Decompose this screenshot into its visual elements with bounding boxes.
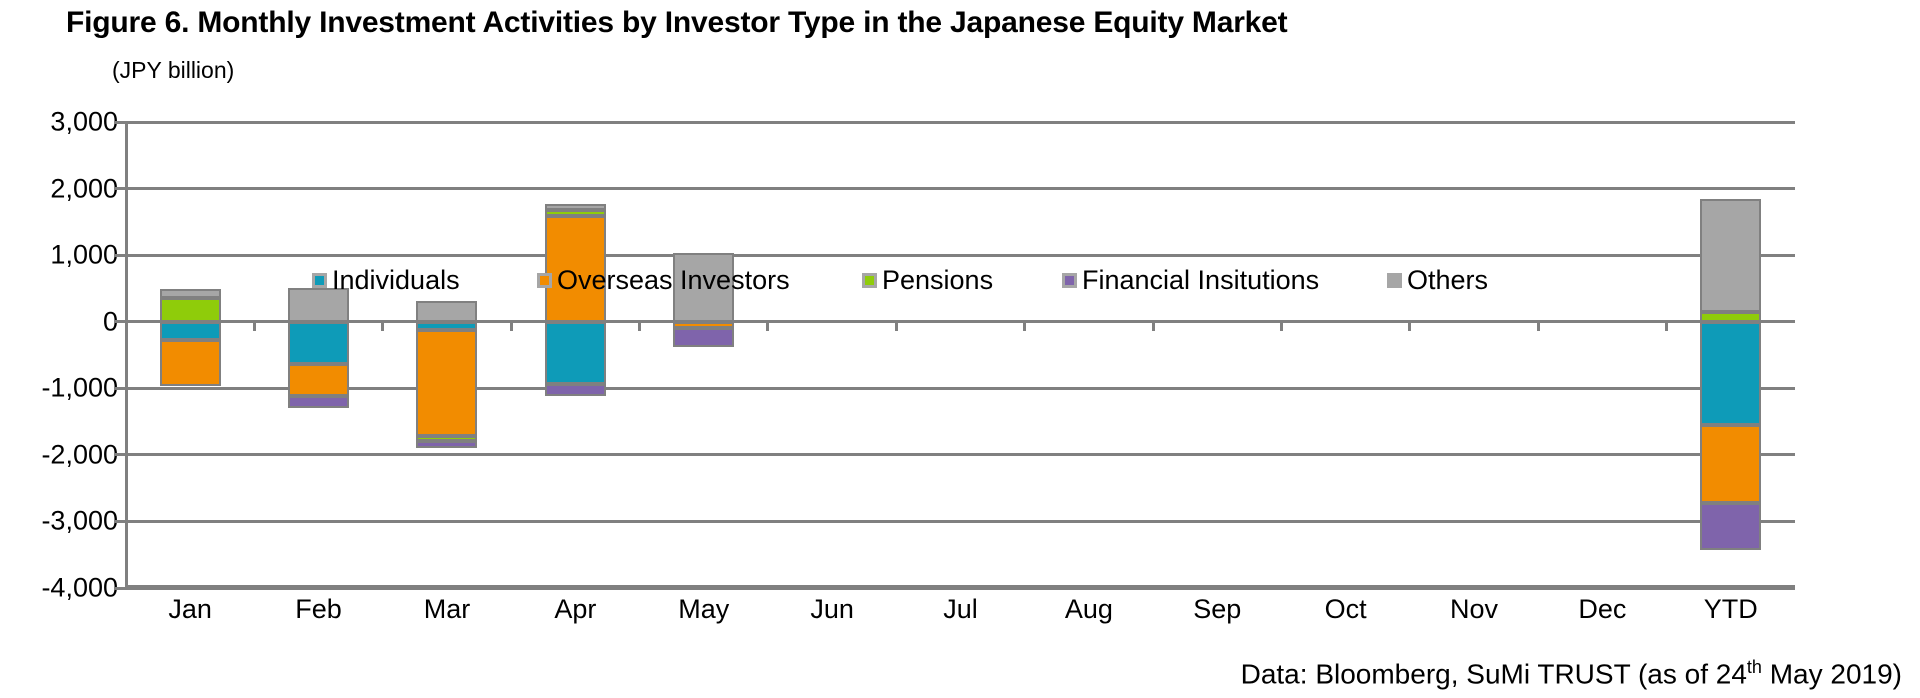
y-axis-tick-label: 1,000 xyxy=(50,240,118,271)
x-axis-tick xyxy=(1152,320,1155,331)
x-axis-tick xyxy=(1280,320,1283,331)
x-axis-tick-label: Mar xyxy=(424,594,471,625)
y-axis-tick xyxy=(114,320,126,323)
bar-segment[interactable] xyxy=(160,322,221,340)
gridline xyxy=(126,320,1795,323)
legend-label: Financial Insitutions xyxy=(1082,267,1319,294)
legend-swatch-icon xyxy=(1387,273,1402,288)
x-axis-tick-label: Dec xyxy=(1578,594,1626,625)
x-axis-tick xyxy=(1537,320,1540,331)
bar-segment[interactable] xyxy=(416,301,477,321)
bar-column[interactable] xyxy=(673,122,734,588)
x-axis-line xyxy=(126,585,1795,588)
legend-item[interactable]: Overseas Investors xyxy=(537,267,790,294)
y-axis-tick xyxy=(114,453,126,456)
bar-column[interactable] xyxy=(160,122,221,588)
legend-item[interactable]: Individuals xyxy=(312,267,460,294)
bar-segment[interactable] xyxy=(160,340,221,386)
x-axis-tick-label: Jul xyxy=(943,594,978,625)
y-axis-tick xyxy=(114,187,126,190)
bar-segment[interactable] xyxy=(288,364,349,397)
x-axis-tick xyxy=(510,320,513,331)
bar-column[interactable] xyxy=(416,122,477,588)
x-axis-labels: JanFebMarAprMayJunJulAugSepOctNovDecYTD xyxy=(126,594,1795,634)
bar-segment[interactable] xyxy=(416,322,477,331)
bar-segment[interactable] xyxy=(160,298,221,322)
y-axis-tick-label: 3,000 xyxy=(50,107,118,138)
source-suffix: May 2019) xyxy=(1762,658,1902,689)
gridline xyxy=(126,187,1795,190)
legend-swatch-icon xyxy=(312,273,327,288)
bar-segment[interactable] xyxy=(288,322,349,364)
gridline xyxy=(126,520,1795,523)
bar-segment[interactable] xyxy=(416,330,477,436)
chart-legend: IndividualsOverseas InvestorsPensionsFin… xyxy=(252,267,1920,301)
gridline xyxy=(126,121,1795,124)
x-axis-tick xyxy=(1665,320,1668,331)
source-note: Data: Bloomberg, SuMi TRUST (as of 24th … xyxy=(1241,657,1902,690)
bar-column[interactable] xyxy=(545,122,606,588)
x-axis-tick xyxy=(381,320,384,331)
x-axis-tick-label: Jan xyxy=(168,594,212,625)
figure-container: Figure 6. Monthly Investment Activities … xyxy=(0,0,1920,698)
y-axis-tick xyxy=(114,121,126,124)
source-prefix: Data: Bloomberg, SuMi TRUST (as of 24 xyxy=(1241,658,1747,689)
legend-swatch-icon xyxy=(537,273,552,288)
y-axis-tick-label: -4,000 xyxy=(41,573,118,604)
x-axis-tick-label: Feb xyxy=(295,594,342,625)
bar-segment[interactable] xyxy=(160,289,221,298)
bar-segment[interactable] xyxy=(1700,312,1761,322)
x-axis-tick xyxy=(766,320,769,331)
x-axis-tick-label: Jun xyxy=(810,594,854,625)
y-axis-tick xyxy=(114,587,126,590)
y-axis-unit-label: (JPY billion) xyxy=(112,57,234,84)
gridline xyxy=(126,254,1795,257)
bar-segment[interactable] xyxy=(1700,425,1761,504)
y-axis-tick xyxy=(114,254,126,257)
x-axis-tick xyxy=(1023,320,1026,331)
legend-item[interactable]: Pensions xyxy=(862,267,993,294)
legend-swatch-icon xyxy=(862,273,877,288)
x-axis-tick-label: Aug xyxy=(1065,594,1113,625)
x-axis-tick xyxy=(638,320,641,331)
x-axis-tick xyxy=(1408,320,1411,331)
bar-column[interactable] xyxy=(1700,122,1761,588)
legend-label: Overseas Investors xyxy=(557,267,790,294)
legend-item[interactable]: Others xyxy=(1387,267,1488,294)
bar-segment[interactable] xyxy=(673,328,734,347)
y-axis-tick-label: -2,000 xyxy=(41,439,118,470)
y-axis-tick xyxy=(114,387,126,390)
plot-area: IndividualsOverseas InvestorsPensionsFin… xyxy=(126,122,1795,588)
bar-segment[interactable] xyxy=(545,322,606,384)
source-ordinal: th xyxy=(1747,657,1762,677)
legend-label: Others xyxy=(1407,267,1488,294)
x-axis-tick-label: Oct xyxy=(1325,594,1367,625)
gridline xyxy=(126,387,1795,390)
y-axis-tick-label: 2,000 xyxy=(50,173,118,204)
bar-column[interactable] xyxy=(288,122,349,588)
bar-segment[interactable] xyxy=(1700,503,1761,550)
x-axis-tick-label: Nov xyxy=(1450,594,1498,625)
legend-item[interactable]: Financial Insitutions xyxy=(1062,267,1319,294)
figure-title: Figure 6. Monthly Investment Activities … xyxy=(66,6,1766,40)
x-axis-tick-label: Sep xyxy=(1193,594,1241,625)
bar-segment[interactable] xyxy=(545,384,606,396)
x-axis-tick-label: Apr xyxy=(554,594,596,625)
y-axis-tick xyxy=(114,520,126,523)
y-axis-labels: 3,0002,0001,0000-1,000-2,000-3,000-4,000 xyxy=(0,122,118,588)
legend-swatch-icon xyxy=(1062,273,1077,288)
y-axis-tick-label: -3,000 xyxy=(41,506,118,537)
y-axis-line xyxy=(125,122,128,588)
bar-segment[interactable] xyxy=(673,322,734,329)
x-axis-tick-label: YTD xyxy=(1704,594,1758,625)
y-axis-tick-label: -1,000 xyxy=(41,373,118,404)
bar-segment[interactable] xyxy=(416,441,477,448)
x-axis-tick-label: May xyxy=(678,594,729,625)
x-axis-tick xyxy=(253,320,256,331)
bar-segment[interactable] xyxy=(288,396,349,408)
legend-label: Pensions xyxy=(882,267,993,294)
legend-label: Individuals xyxy=(332,267,460,294)
bar-segment[interactable] xyxy=(1700,322,1761,425)
x-axis-tick xyxy=(895,320,898,331)
gridline xyxy=(126,453,1795,456)
